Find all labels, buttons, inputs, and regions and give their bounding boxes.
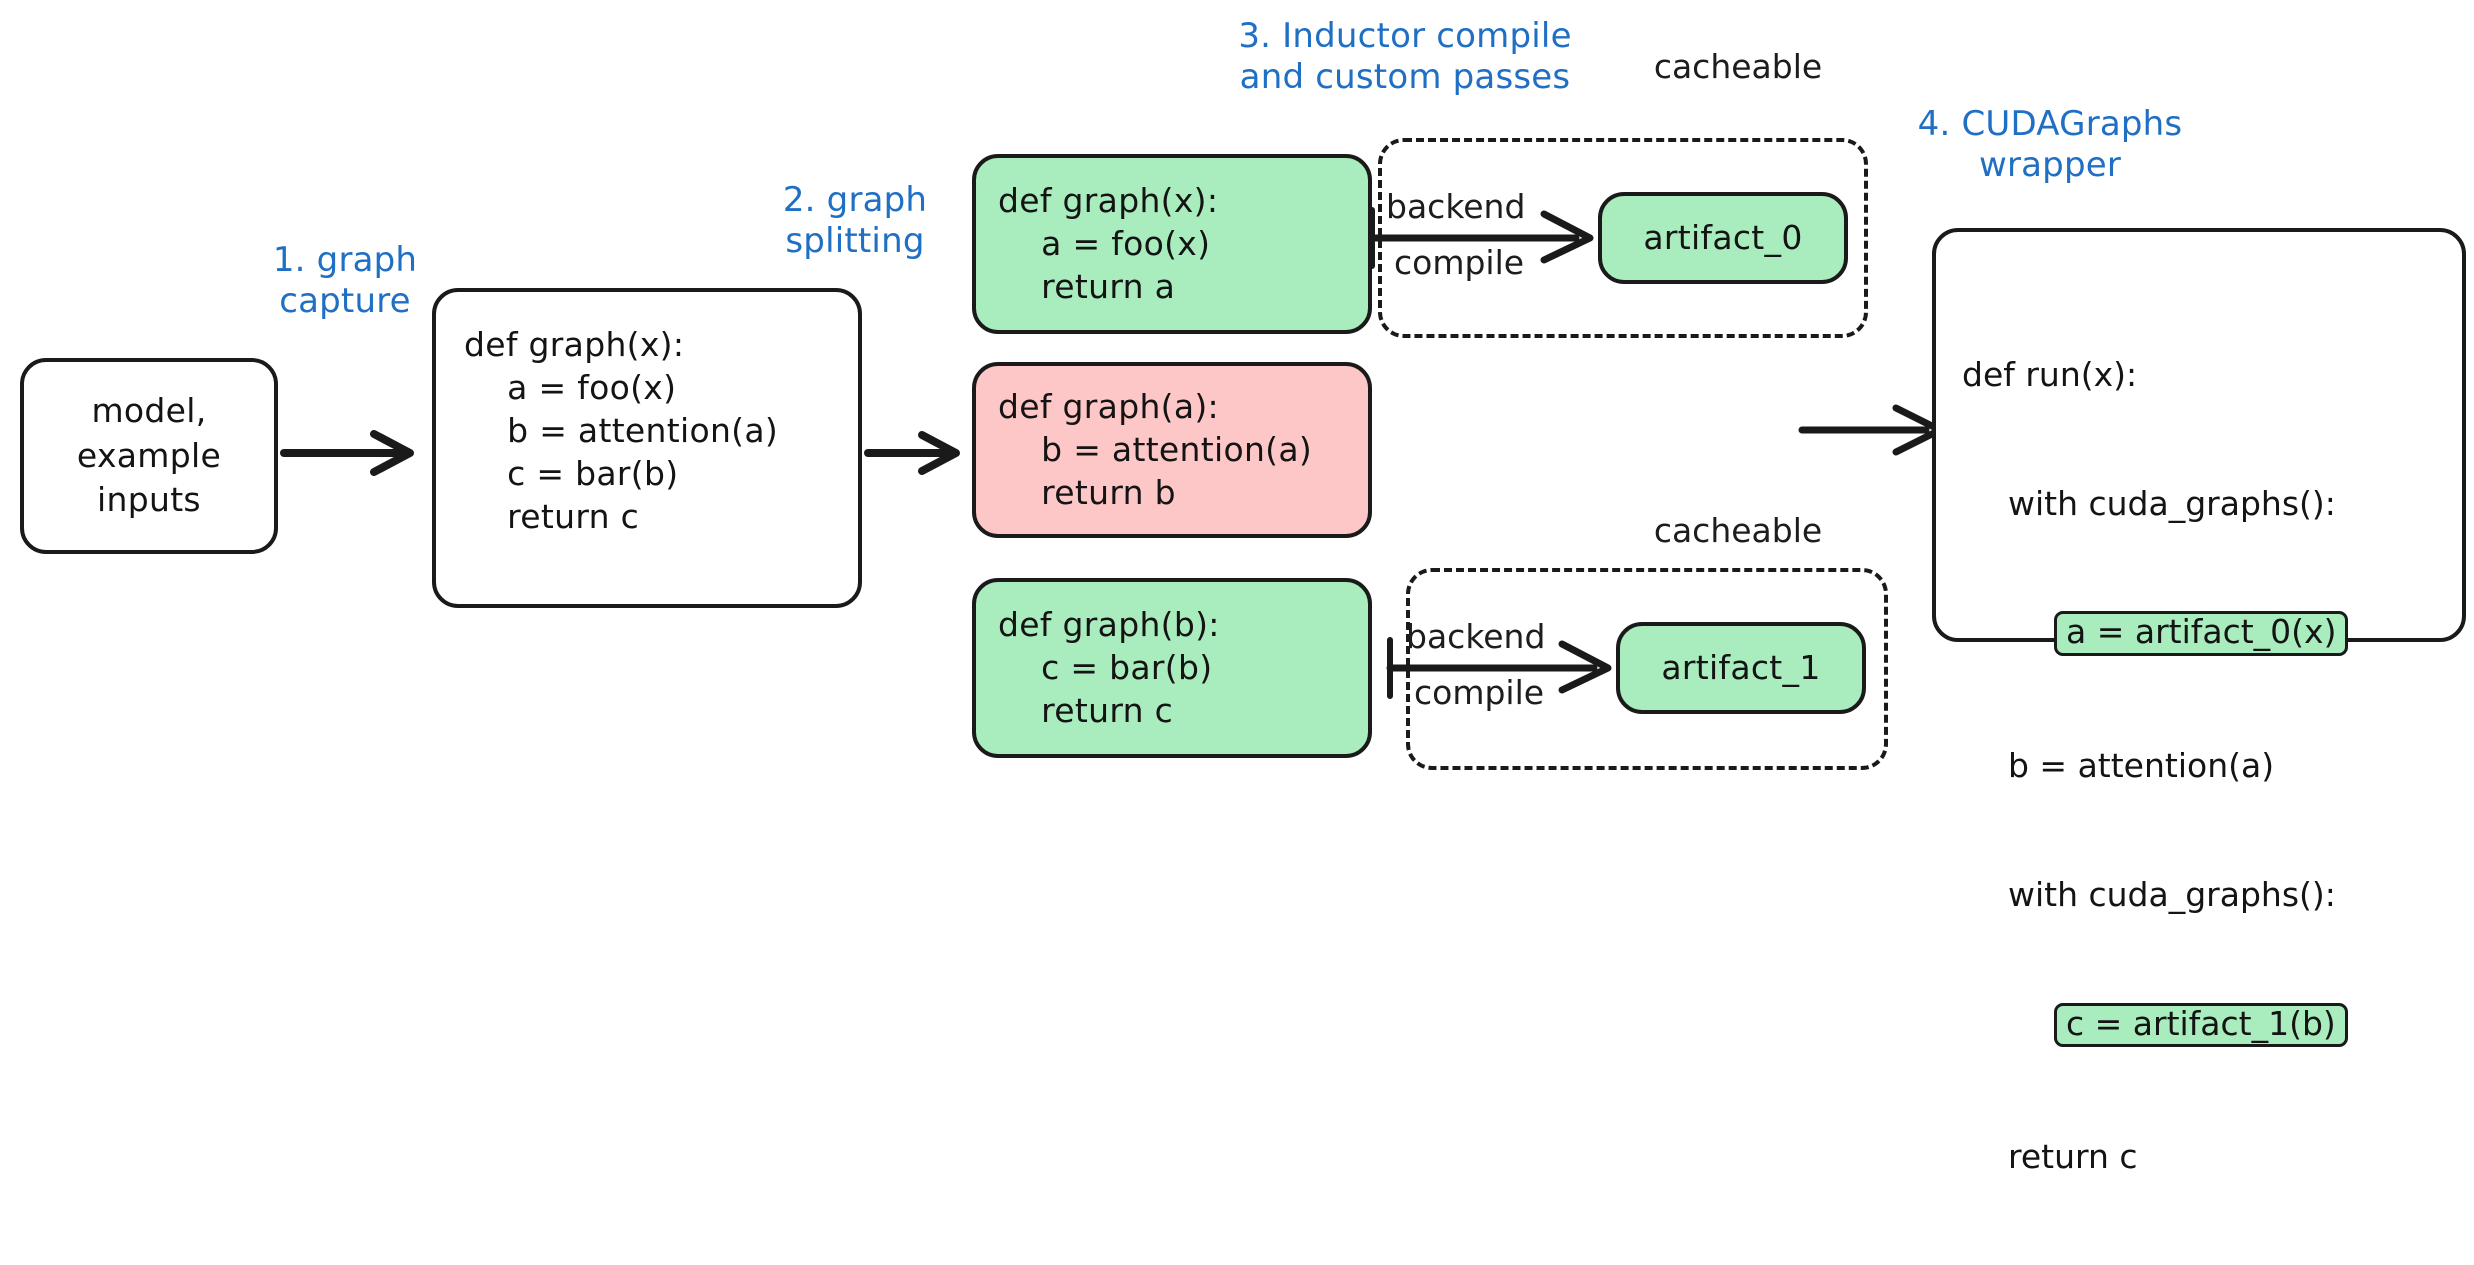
highlight-artifact-0-call: a = artifact_0(x)	[2054, 611, 2348, 656]
cacheable-caption-top: cacheable	[1618, 48, 1858, 86]
artifact-1-label: artifact_1	[1620, 647, 1862, 690]
highlight-artifact-1-call: c = artifact_1(b)	[2054, 1003, 2348, 1048]
input-box: model, example inputs	[20, 358, 278, 554]
run-line-with-1: with cuda_graphs():	[1962, 483, 2452, 526]
captured-graph-code: def graph(x): a = foo(x) b = attention(a…	[464, 324, 778, 538]
arrow-label-compile-bottom: compile	[1414, 674, 1614, 712]
cacheable-caption-bottom: cacheable	[1618, 512, 1858, 550]
subgraph-attention-code: def graph(a): b = attention(a) return b	[998, 386, 1312, 515]
artifact-0-label: artifact_0	[1602, 217, 1844, 260]
subgraph-box-attention: def graph(a): b = attention(a) return b	[972, 362, 1372, 538]
arrow-graph-to-subgraphs	[866, 428, 976, 478]
run-line-return: return c	[1962, 1136, 2452, 1179]
arrow-label-backend-bottom: backend	[1406, 618, 1606, 656]
step-label-3: 3. Inductor compile and custom passes	[1200, 16, 1610, 99]
run-line-def: def run(x):	[1962, 354, 2452, 397]
input-box-text: model, example inputs	[24, 389, 274, 524]
artifact-box-0: artifact_0	[1598, 192, 1848, 284]
subgraph-bar-code: def graph(b): c = bar(b) return c	[998, 604, 1220, 733]
run-box-code: def run(x): with cuda_graphs(): a = arti…	[1962, 268, 2452, 1265]
subgraph-foo-code: def graph(x): a = foo(x) return a	[998, 180, 1218, 309]
run-line-artifact-1: c = artifact_1(b)	[1962, 1003, 2452, 1051]
run-line-with-2: with cuda_graphs():	[1962, 874, 2452, 917]
arrow-input-to-graph	[282, 428, 432, 478]
captured-graph-box: def graph(x): a = foo(x) b = attention(a…	[432, 288, 862, 608]
subgraph-box-bar: def graph(b): c = bar(b) return c	[972, 578, 1372, 758]
diagram-canvas: 1. graph capture 2. graph splitting 3. I…	[0, 0, 2474, 794]
artifact-box-1: artifact_1	[1616, 622, 1866, 714]
subgraph-box-foo: def graph(x): a = foo(x) return a	[972, 154, 1372, 334]
step-label-2: 2. graph splitting	[760, 180, 950, 263]
run-line-attention: b = attention(a)	[1962, 745, 2452, 788]
step-label-4: 4. CUDAGraphs wrapper	[1880, 104, 2220, 187]
step-label-1: 1. graph capture	[240, 240, 450, 323]
arrow-label-backend-top: backend	[1386, 188, 1586, 226]
arrow-label-compile-top: compile	[1394, 244, 1594, 282]
run-line-artifact-0: a = artifact_0(x)	[1962, 611, 2452, 659]
